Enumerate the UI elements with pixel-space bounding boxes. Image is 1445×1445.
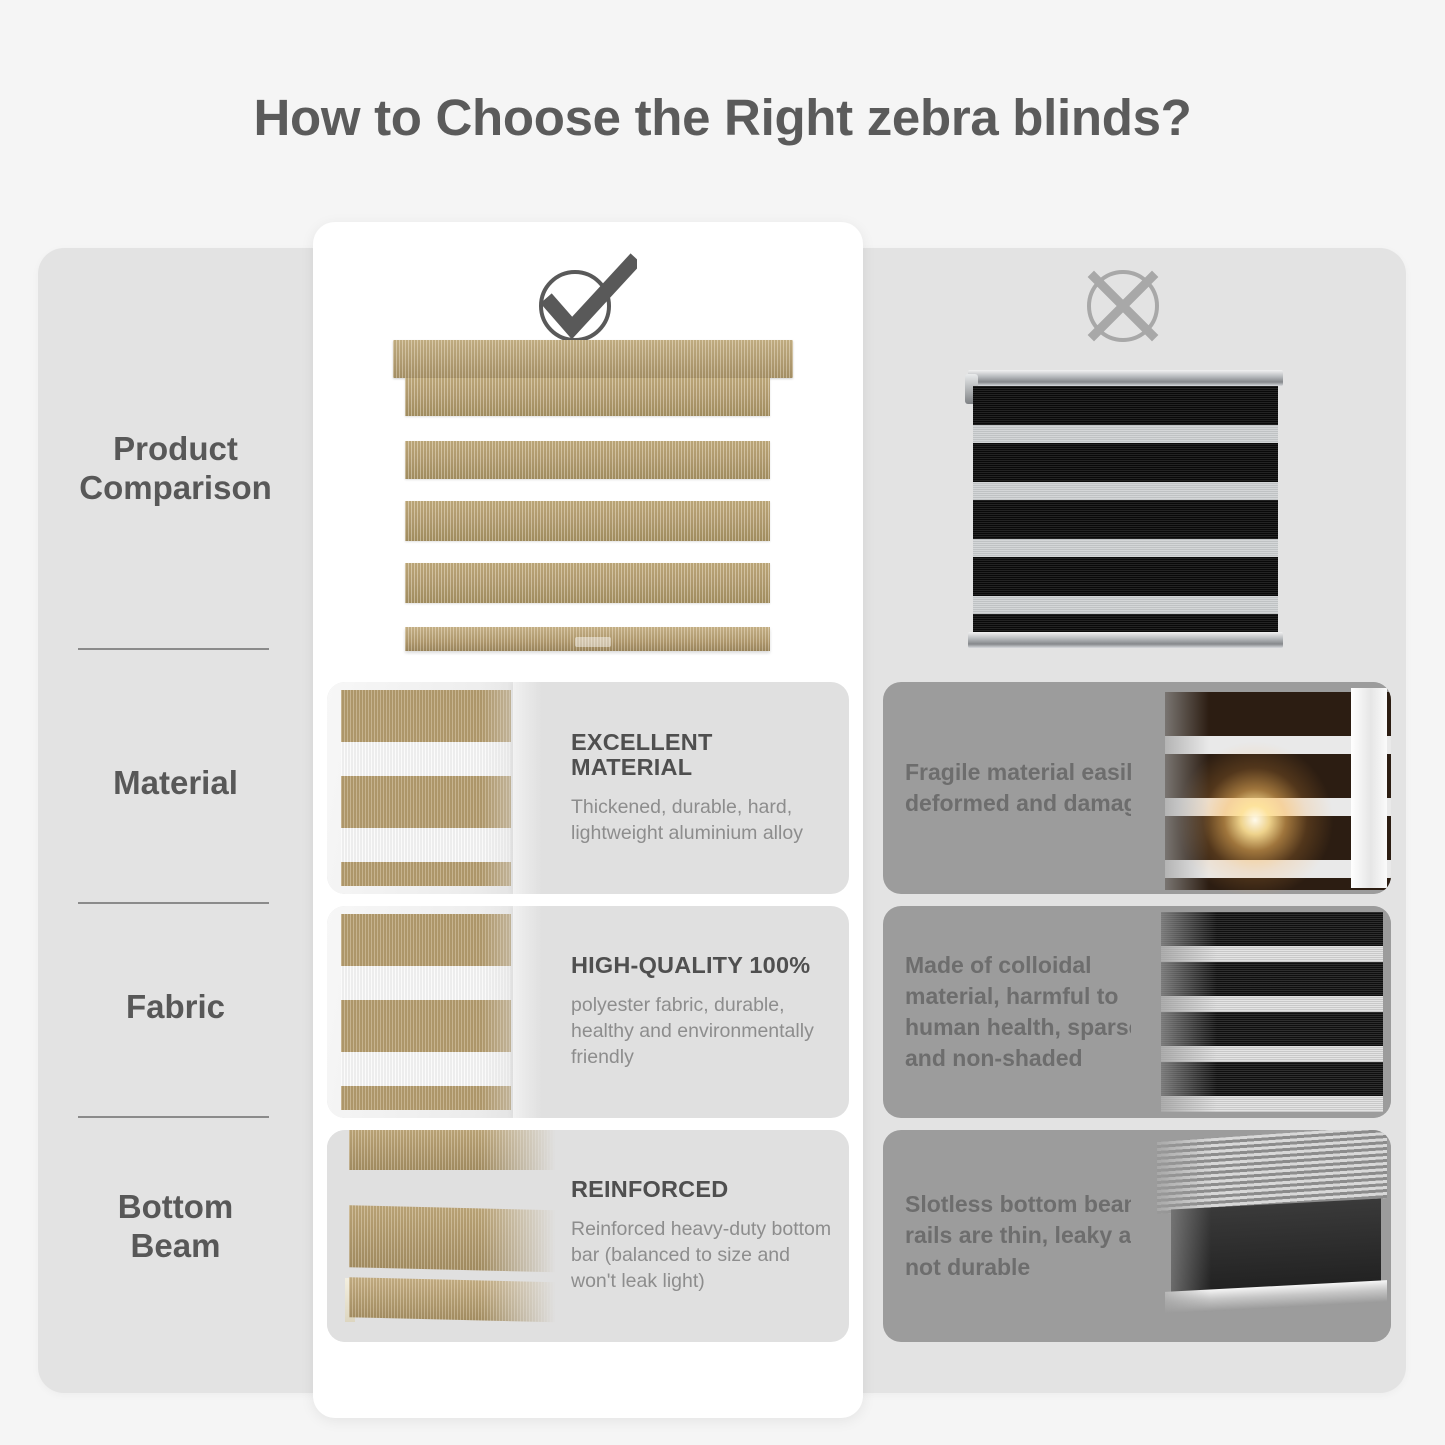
row-divider	[78, 648, 269, 650]
row-label-line: Bottom	[38, 1188, 313, 1227]
photo-fade	[1131, 906, 1217, 1118]
row-divider	[78, 902, 269, 904]
window-frame	[1351, 688, 1387, 888]
headrail	[393, 340, 793, 378]
good-card-title: REINFORCED	[571, 1177, 833, 1203]
blind-slat	[405, 501, 770, 541]
thin-rail-photo	[1131, 1130, 1391, 1342]
good-card-photo-bottom-beam	[327, 1130, 577, 1342]
bad-card-photo-bottom-beam	[1131, 1130, 1391, 1342]
good-card-bottom-beam: REINFORCED Reinforced heavy-duty bottom …	[327, 1130, 849, 1342]
bad-card-body: Made of colloidal material, harmful to h…	[905, 950, 1165, 1074]
row-label-product-comparison: Product Comparison	[38, 430, 313, 508]
bad-card-photo-fabric	[1131, 906, 1391, 1118]
row-label-bottom-beam: Bottom Beam	[38, 1188, 313, 1266]
good-card-body: polyester fabric, durable, healthy and e…	[571, 992, 833, 1070]
row-label-fabric: Fabric	[38, 988, 313, 1027]
row-label-column: Product Comparison Material Fabric Botto…	[38, 248, 313, 1393]
blind-fabric	[973, 386, 1278, 632]
product-image-black-zebra-blind	[968, 370, 1283, 648]
bottom-rail	[968, 632, 1283, 648]
headrail	[968, 370, 1283, 386]
row-label-line: Beam	[38, 1227, 313, 1266]
good-card-fabric: HIGH-QUALITY 100% polyester fabric, dura…	[327, 906, 849, 1118]
bad-card-body: Slotless bottom beam rails are thin, lea…	[905, 1189, 1165, 1282]
light-leak-photo	[1131, 682, 1391, 894]
blind-slat	[405, 378, 770, 416]
row-label-line: Product	[38, 430, 313, 469]
blind-slat	[405, 563, 770, 603]
good-card-body: Thickened, durable, hard, lightweight al…	[571, 794, 833, 846]
bad-card-bottom-beam: Slotless bottom beam rails are thin, lea…	[883, 1130, 1391, 1342]
photo-fade	[481, 1130, 577, 1342]
good-card-photo-fabric	[327, 906, 577, 1118]
check-circle-icon	[527, 252, 637, 348]
photo-fade	[481, 682, 577, 894]
good-card-text-fabric: HIGH-QUALITY 100% polyester fabric, dura…	[571, 906, 841, 1118]
good-card-title: EXCELLENT MATERIAL	[571, 730, 833, 782]
photo-fade	[1131, 1130, 1211, 1342]
bad-card-text-bottom-beam: Slotless bottom beam rails are thin, lea…	[905, 1130, 1165, 1342]
product-image-tan-zebra-blind	[393, 340, 793, 665]
photo-fade	[1131, 682, 1209, 894]
page-title: How to Choose the Right zebra blinds?	[0, 88, 1445, 147]
sparse-fabric-photo	[1131, 906, 1391, 1118]
good-card-photo-material	[327, 682, 577, 894]
row-label-material: Material	[38, 764, 313, 803]
bad-card-text-fabric: Made of colloidal material, harmful to h…	[905, 906, 1165, 1118]
bad-card-body: Fragile material easily deformed and dam…	[905, 757, 1165, 819]
blind-slat	[405, 441, 770, 479]
row-label-line: Comparison	[38, 469, 313, 508]
infographic-page: How to Choose the Right zebra blinds? Pr…	[0, 0, 1445, 1445]
bad-card-photo-material	[1131, 682, 1391, 894]
good-card-title: HIGH-QUALITY 100%	[571, 953, 833, 979]
row-divider	[78, 1116, 269, 1118]
good-card-body: Reinforced heavy-duty bottom bar (balanc…	[571, 1216, 833, 1294]
good-card-text-bottom-beam: REINFORCED Reinforced heavy-duty bottom …	[571, 1130, 841, 1342]
bad-card-fabric: Made of colloidal material, harmful to h…	[883, 906, 1391, 1118]
pull-tab	[575, 637, 611, 647]
bad-card-text-material: Fragile material easily deformed and dam…	[905, 682, 1165, 894]
good-card-material: EXCELLENT MATERIAL Thickened, durable, h…	[327, 682, 849, 894]
good-card-text-material: EXCELLENT MATERIAL Thickened, durable, h…	[571, 682, 841, 894]
photo-fade	[481, 906, 577, 1118]
bad-card-material: Fragile material easily deformed and dam…	[883, 682, 1391, 894]
cross-circle-icon	[1068, 258, 1178, 354]
